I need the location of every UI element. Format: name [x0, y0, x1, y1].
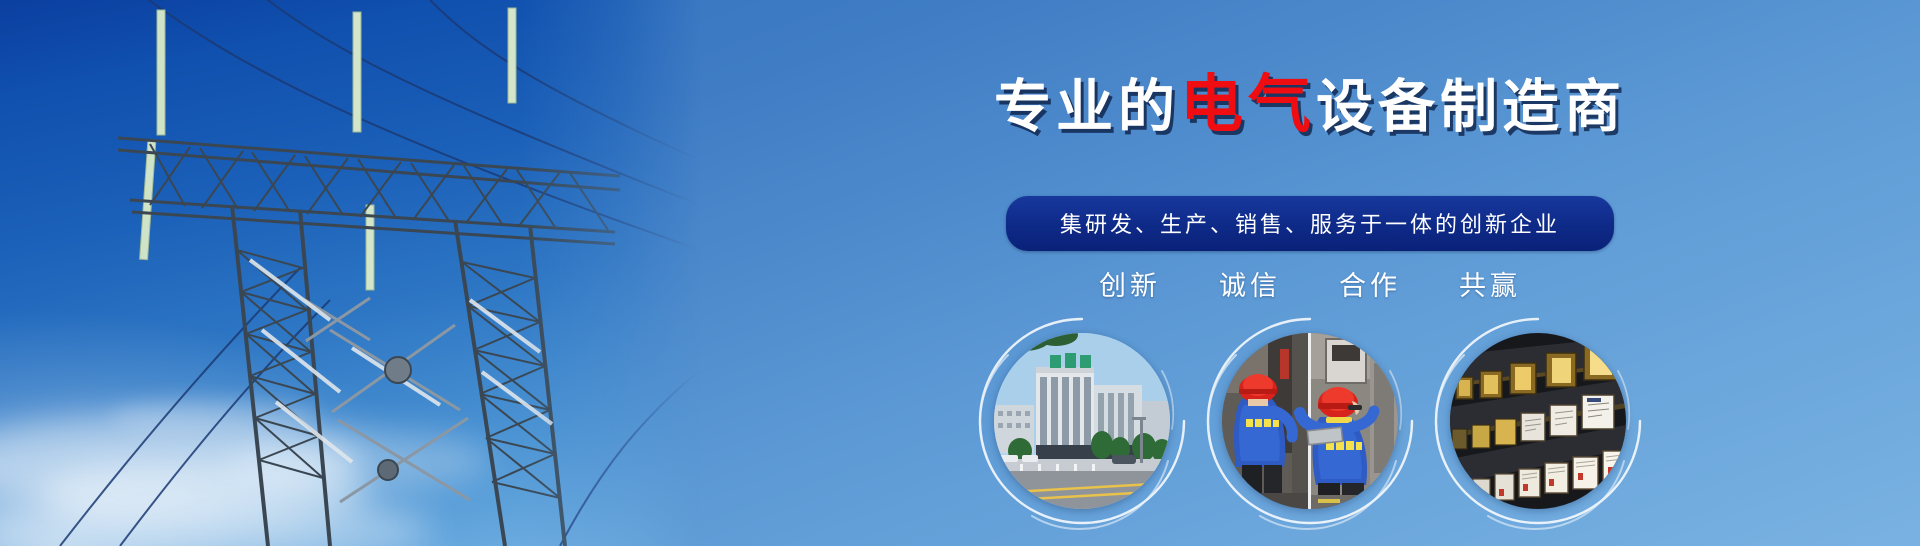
- subtitle-pill-wrapper: 集研发、生产、销售、服务于一体的创新企业: [700, 196, 1920, 251]
- subtitle-pill: 集研发、生产、销售、服务于一体的创新企业: [1006, 196, 1614, 251]
- keyword-winwin: 共赢: [1459, 264, 1521, 303]
- circle-unit-certificates: [1442, 325, 1634, 517]
- keyword-integrity: 诚信: [1219, 264, 1281, 303]
- transmission-tower-photo: [0, 0, 700, 546]
- pylon-lattice-illustration: [0, 0, 700, 546]
- headline-part-2: 设备制造商: [1316, 75, 1626, 139]
- circle-unit-workers: [1214, 325, 1406, 517]
- workers-installing-switchgear-photo: [1222, 333, 1398, 509]
- photo-circle-row: [700, 325, 1920, 517]
- headline-part-1: 专业的: [994, 75, 1180, 139]
- headline-highlight: 电气: [1180, 70, 1316, 140]
- keyword-innovation: 创新: [1099, 264, 1161, 303]
- keyword-row: 创新 诚信 合作 共赢: [700, 264, 1920, 303]
- keyword-cooperation: 合作: [1339, 264, 1401, 303]
- office-building-photo: [994, 333, 1170, 509]
- banner-content: 专业的电气设备制造商 集研发、生产、销售、服务于一体的创新企业 创新 诚信 合作…: [700, 0, 1920, 546]
- company-hero-banner: 专业的电气设备制造商 集研发、生产、销售、服务于一体的创新企业 创新 诚信 合作…: [0, 0, 1920, 546]
- certificate-wall-photo: [1450, 333, 1626, 509]
- page-title: 专业的电气设备制造商: [700, 74, 1920, 137]
- circle-unit-office: [986, 325, 1178, 517]
